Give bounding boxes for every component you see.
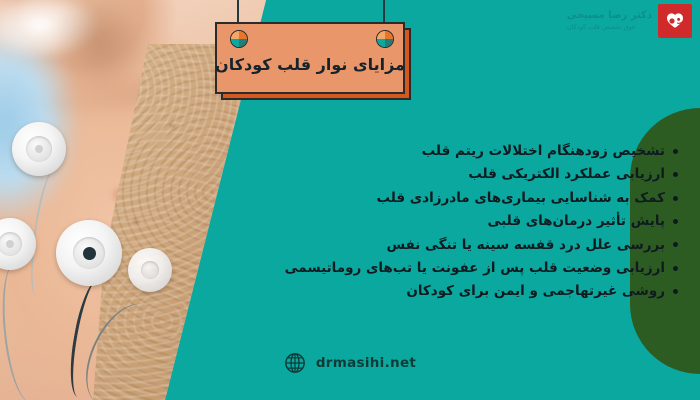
- list-item: بررسی علل درد قفسه سینه یا تنگی نفس: [38, 237, 678, 254]
- list-item-label: بررسی علل درد قفسه سینه یا تنگی نفس: [386, 237, 665, 254]
- list-item: ارزیابی عملکرد الکتریکی قلب: [38, 166, 678, 183]
- list-item-label: کمک به شناسایی بیماری‌های مادرزادی قلب: [376, 190, 665, 207]
- pin-quadrant: [385, 31, 393, 39]
- bullet-dot-icon: [673, 289, 678, 294]
- benefits-list: تشخیص زودهنگام اختلالات ریتم قلب ارزیابی…: [38, 143, 678, 307]
- list-item: ارزیابی وضعیت قلب پس از عفونت یا تب‌های …: [38, 260, 678, 277]
- list-item: پایش تأثیر درمان‌های قلبی: [38, 213, 678, 230]
- website-url: drmasihi.net: [316, 355, 416, 371]
- pin-icon-right: [376, 30, 394, 48]
- pin-quadrant: [385, 39, 393, 47]
- brand-text-block: دکتر رضا مسیحی فوق تخصص قلب کودکان: [567, 10, 652, 32]
- bullet-dot-icon: [673, 196, 678, 201]
- list-item-label: روشی غیرتهاجمی و ایمن برای کودکان: [406, 283, 665, 300]
- pin-quadrant: [239, 31, 247, 39]
- globe-icon: [284, 352, 306, 374]
- pin-quadrant: [231, 39, 239, 47]
- bullet-dot-icon: [673, 219, 678, 224]
- list-item-label: ارزیابی عملکرد الکتریکی قلب: [468, 166, 665, 183]
- pin-quadrant: [377, 39, 385, 47]
- bullet-dot-icon: [673, 172, 678, 177]
- bullet-dot-icon: [673, 242, 678, 247]
- brand-logo-icon: [658, 4, 692, 38]
- pin-quadrant: [377, 31, 385, 39]
- list-item-label: تشخیص زودهنگام اختلالات ریتم قلب: [422, 143, 665, 160]
- page-title: مزایای نوار قلب کودکان: [215, 55, 405, 74]
- pin-icon-left: [230, 30, 248, 48]
- list-item: روشی غیرتهاجمی و ایمن برای کودکان: [38, 283, 678, 300]
- pin-quadrant: [231, 31, 239, 39]
- brand-header: دکتر رضا مسیحی فوق تخصص قلب کودکان: [567, 4, 692, 38]
- bullet-dot-icon: [673, 149, 678, 154]
- footer: drmasihi.net: [0, 352, 700, 374]
- list-item: کمک به شناسایی بیماری‌های مادرزادی قلب: [38, 190, 678, 207]
- list-item-label: پایش تأثیر درمان‌های قلبی: [488, 213, 665, 230]
- infographic-poster: مزایای نوار قلب کودکان دکتر رضا مسیحی ف: [0, 0, 700, 400]
- brand-subtitle: فوق تخصص قلب کودکان: [567, 24, 652, 32]
- list-item: تشخیص زودهنگام اختلالات ریتم قلب: [38, 143, 678, 160]
- brand-name: دکتر رضا مسیحی: [567, 10, 652, 22]
- bullet-dot-icon: [673, 266, 678, 271]
- pin-quadrant: [239, 39, 247, 47]
- list-item-label: ارزیابی وضعیت قلب پس از عفونت یا تب‌های …: [285, 260, 665, 277]
- electrode-snap: [6, 240, 14, 248]
